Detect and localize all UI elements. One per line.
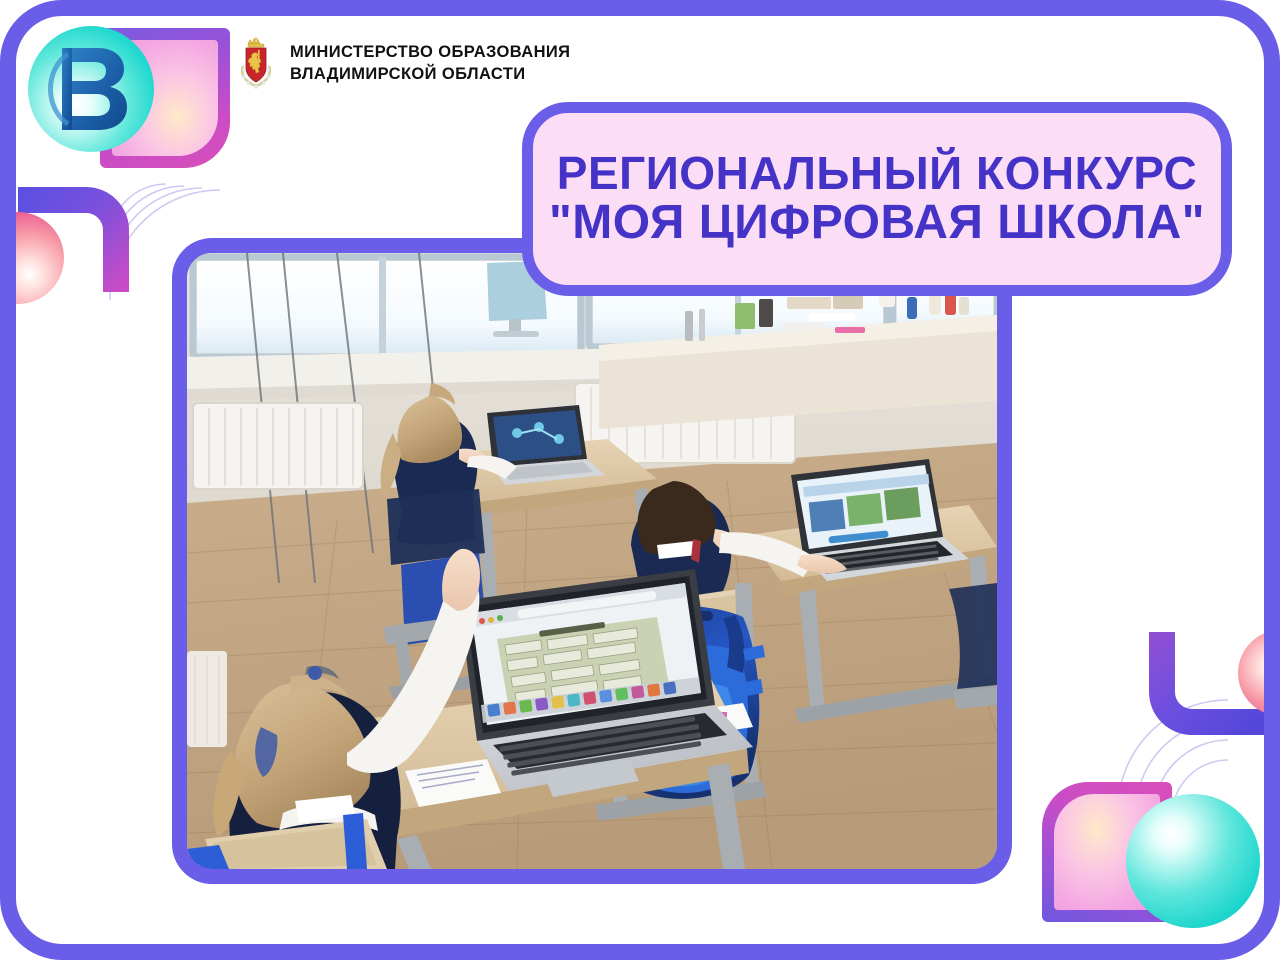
ministry-header: МИНИСТЕРСТВО ОБРАЗОВАНИЯ ВЛАДИМИРСКОЙ ОБ…	[234, 36, 570, 92]
classroom-photo-card	[172, 238, 1012, 884]
contest-title-line2: "МОЯ ЦИФРОВАЯ ШКОЛА"	[549, 198, 1205, 249]
ministry-name-label: МИНИСТЕРСТВО ОБРАЗОВАНИЯ ВЛАДИМИРСКОЙ ОБ…	[290, 42, 570, 86]
contest-title-banner: РЕГИОНАЛЬНЫЙ КОНКУРС "МОЯ ЦИФРОВАЯ ШКОЛА…	[522, 102, 1232, 296]
contest-title-line1: РЕГИОНАЛЬНЫЙ КОНКУРС	[557, 149, 1197, 198]
classroom-photo	[187, 253, 997, 869]
sphere-teal-bottom-right-shape	[1126, 794, 1260, 928]
vladimir-oblast-coat-of-arms-icon	[234, 36, 278, 92]
logo-letter-v-icon	[28, 26, 154, 152]
